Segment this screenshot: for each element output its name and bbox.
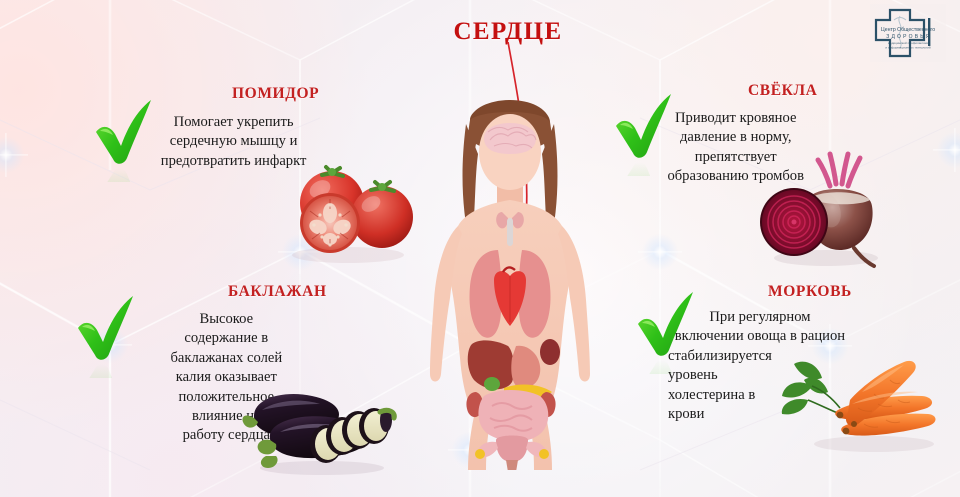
panel-line: Высокое bbox=[126, 310, 327, 329]
page-title: СЕРДЦЕ bbox=[453, 18, 562, 46]
panel-line: содержание в bbox=[126, 329, 327, 348]
logo-line4: и информационных технологий bbox=[885, 46, 930, 50]
logo-line2: З Д О Р О В Ь Я bbox=[886, 34, 929, 40]
panel-heading-beet: СВЁКЛА bbox=[748, 82, 817, 100]
logo-line3: медицинской профилактики bbox=[888, 41, 929, 45]
panel-line: сердечную мышцу и bbox=[148, 132, 319, 151]
logo-line1: Центр Общественного bbox=[881, 27, 935, 33]
tomato-image bbox=[286, 155, 420, 265]
carrot-image bbox=[778, 352, 948, 457]
panel-line: При регулярном bbox=[668, 308, 852, 327]
eggplant-image bbox=[240, 372, 400, 477]
panel-line: давление в норму, bbox=[654, 128, 817, 147]
panel-line: Приводит кровяное bbox=[654, 109, 817, 128]
female-body-organs-illustration bbox=[400, 100, 620, 470]
panel-line: включении овоща в рацион bbox=[668, 327, 852, 346]
panel-heading-tomato: ПОМИДОР bbox=[232, 85, 319, 103]
beet-image bbox=[752, 150, 892, 270]
panel-heading-carrot: МОРКОВЬ bbox=[768, 283, 852, 301]
panel-line: баклажанах солей bbox=[126, 349, 327, 368]
panel-heading-eggplant: БАКЛАЖАН bbox=[228, 283, 327, 301]
infographic-canvas: СЕРДЦЕ bbox=[0, 0, 960, 497]
public-health-center-logo: Центр Общественного З Д О Р О В Ь Я меди… bbox=[870, 4, 946, 62]
check-icon bbox=[94, 96, 156, 182]
panel-line: Помогает укрепить bbox=[148, 113, 319, 132]
